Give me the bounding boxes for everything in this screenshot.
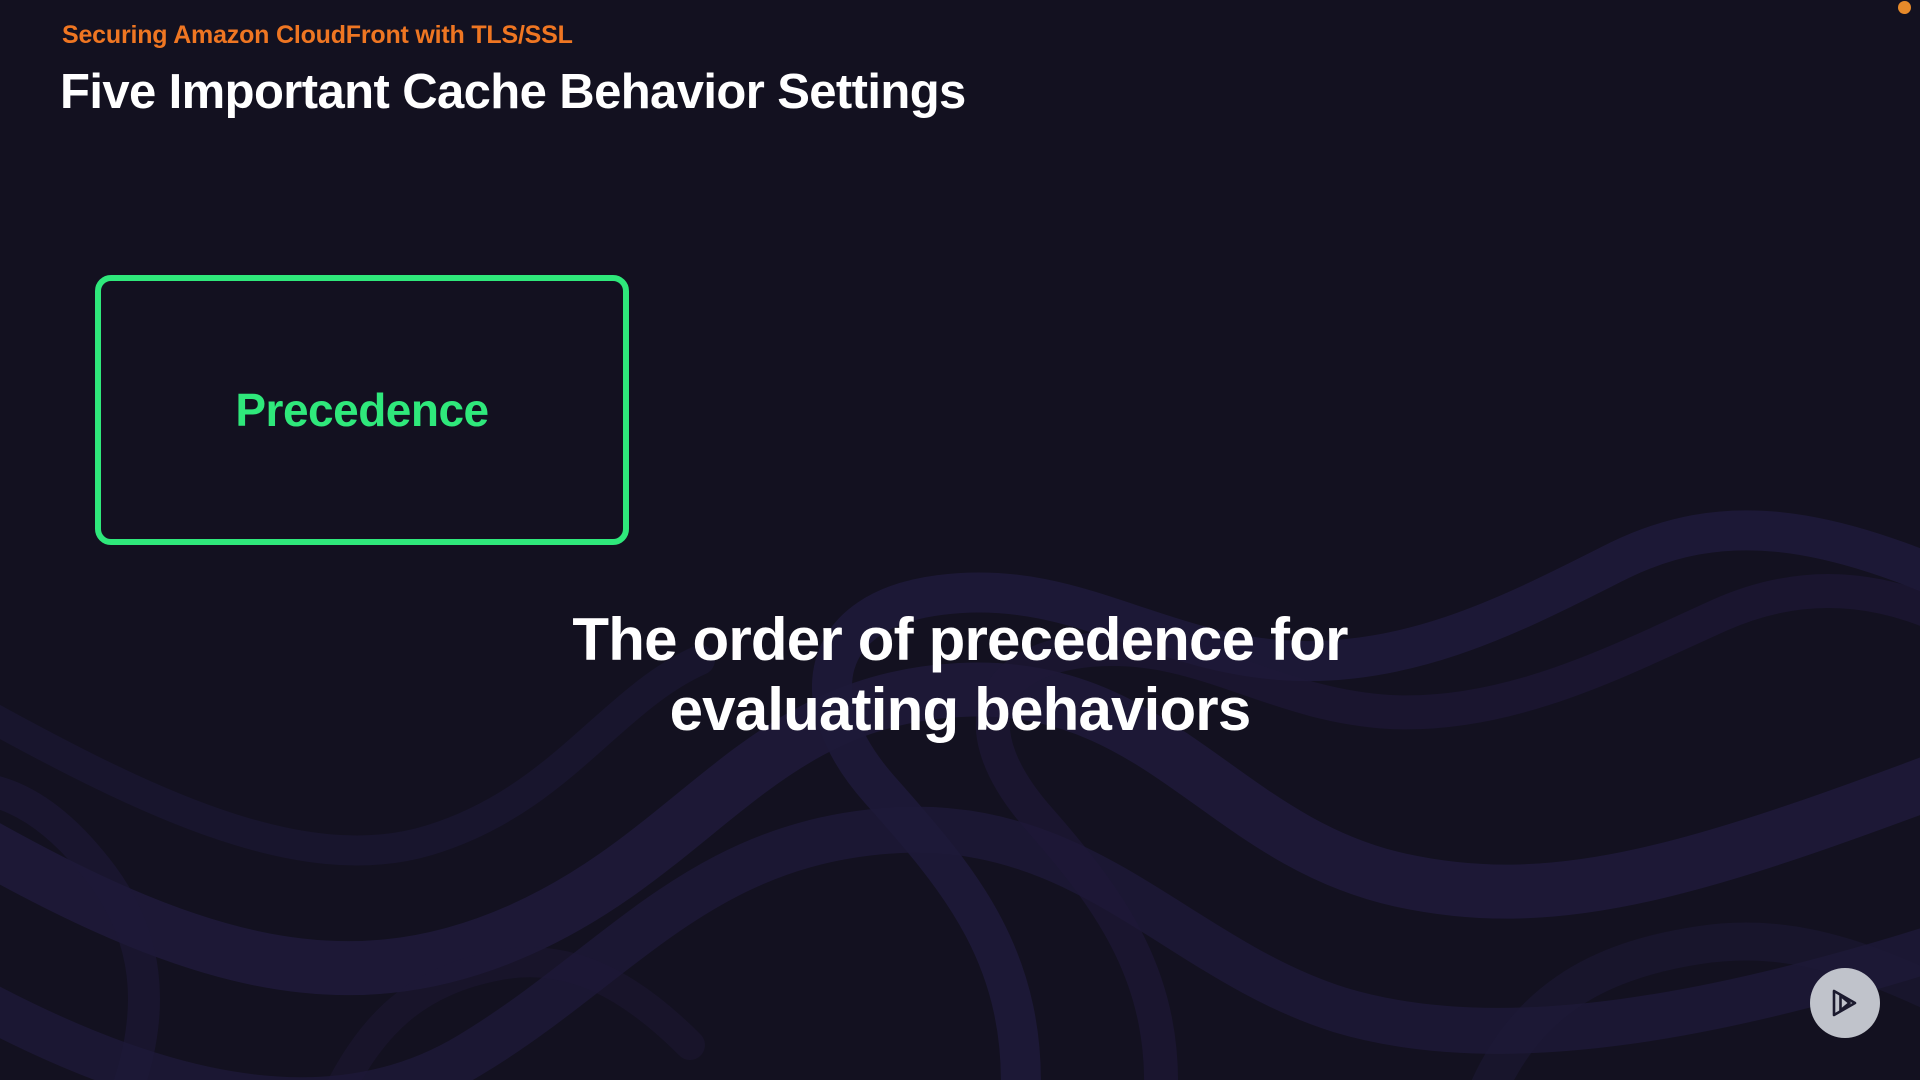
brand-badge-button[interactable]	[1810, 968, 1880, 1038]
presentation-slide: Securing Amazon CloudFront with TLS/SSL …	[0, 0, 1920, 1080]
double-play-icon	[1825, 983, 1865, 1023]
callout-label: Precedence	[235, 387, 488, 433]
status-dot-icon	[1898, 1, 1911, 14]
slide-header: Securing Amazon CloudFront with TLS/SSL …	[0, 0, 966, 121]
page-title: Five Important Cache Behavior Settings	[60, 64, 966, 122]
statement-text: The order of precedence for evaluating b…	[460, 605, 1460, 744]
slide-eyebrow: Securing Amazon CloudFront with TLS/SSL	[62, 22, 966, 50]
precedence-callout-card: Precedence	[95, 275, 629, 545]
